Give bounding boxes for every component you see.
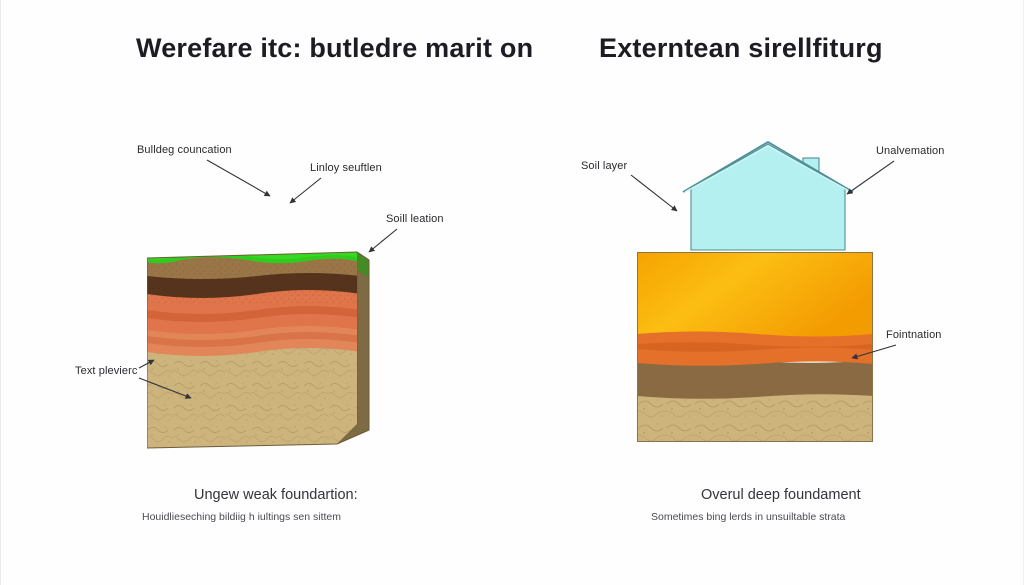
label-building-foundation: Bulldeg councation: [137, 144, 232, 156]
label-soil-relation: Soill leation: [386, 213, 444, 225]
label-foundation: Fointnation: [886, 329, 942, 341]
panel-title-left: Werefare itc: butledre marit on: [136, 33, 533, 64]
layer-bedrock: [637, 394, 873, 442]
left-soil-block-svg: [147, 248, 395, 456]
caption-left-sub: Houidlieseching bildiig h iultings sen s…: [142, 511, 341, 523]
arrow-building-foundation: [207, 160, 270, 196]
right-house: [673, 140, 863, 255]
label-unalvemation: Unalvemation: [876, 145, 944, 157]
label-text-layer: Text plevierc: [75, 365, 137, 377]
label-soil-layer: Soil layer: [581, 160, 627, 172]
arrow-soil-layer: [631, 175, 677, 211]
right-soil-block-svg: [637, 252, 873, 442]
block-front-face: [147, 248, 361, 450]
caption-left-main: Ungew weak foundartion:: [194, 487, 358, 503]
house-svg: [673, 140, 863, 255]
house-body: [691, 144, 845, 250]
diagram-canvas: Werefare itc: butledre marit on Externte…: [0, 0, 1024, 585]
caption-right-main: Overul deep foundament: [701, 487, 861, 503]
layer-upper-orange: [637, 252, 873, 337]
arrow-settlement: [290, 178, 321, 203]
label-settlement: Linloy seuftlen: [310, 162, 382, 174]
right-soil-block: [637, 252, 873, 442]
caption-right-sub: Sometimes bing lerds in unsuiltable stra…: [651, 511, 845, 523]
panel-title-right: Externtean sirellfiturg: [599, 33, 883, 64]
left-soil-block: [147, 248, 395, 456]
